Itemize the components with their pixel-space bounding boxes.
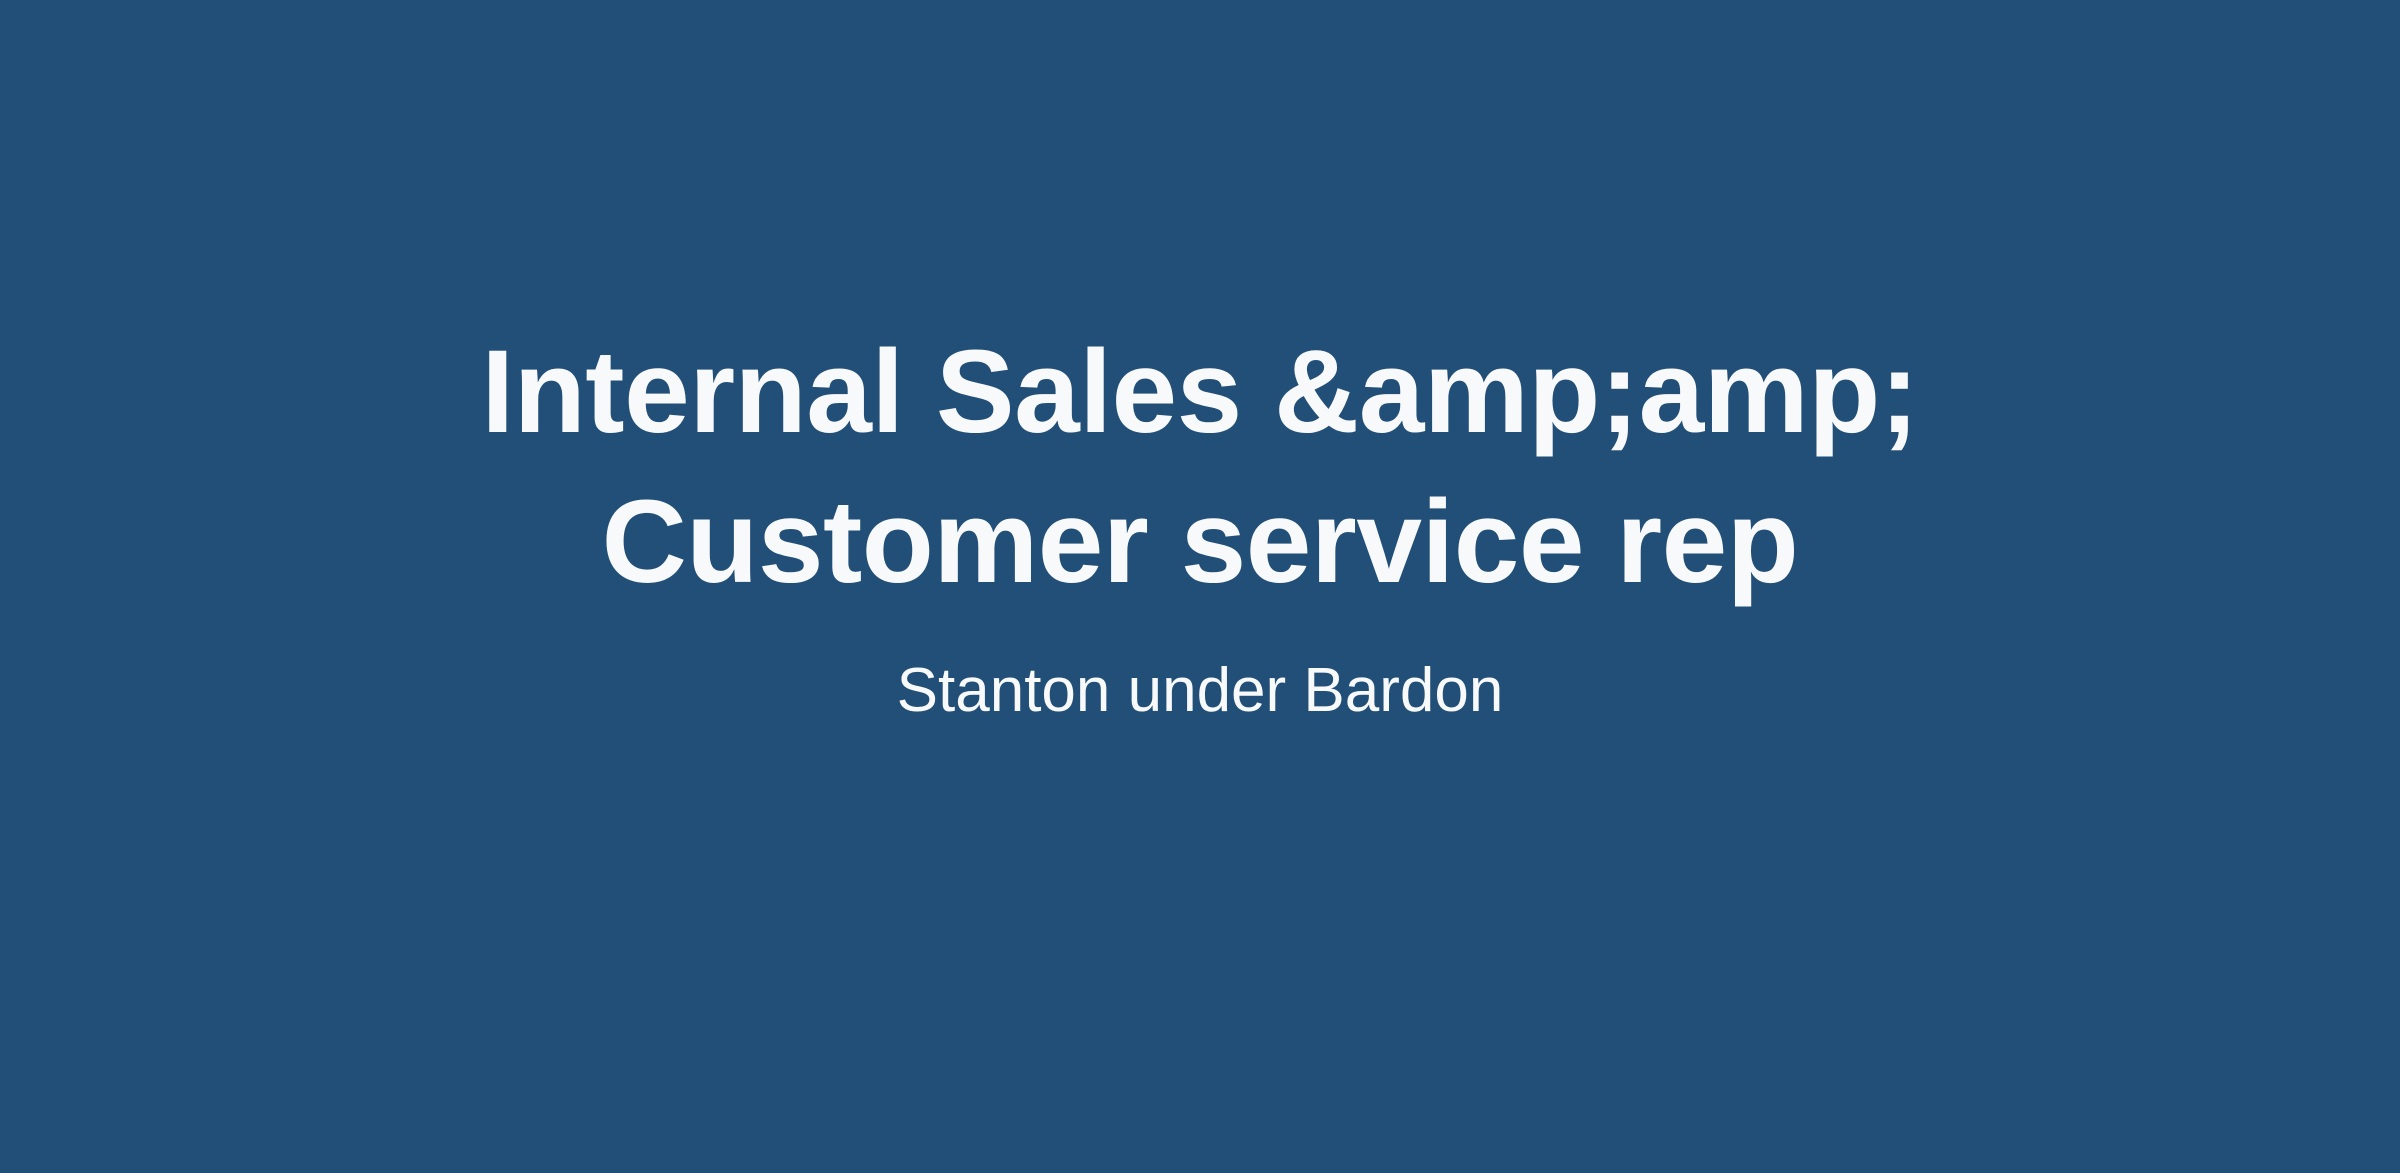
hero-banner: Internal Sales &amp;amp; Customer servic… (0, 0, 2400, 1173)
page-title: Internal Sales &amp;amp; Customer servic… (355, 318, 2045, 618)
hero-text-block: Internal Sales &amp;amp; Customer servic… (355, 318, 2045, 728)
page-subtitle-location: Stanton under Bardon (897, 654, 1504, 728)
